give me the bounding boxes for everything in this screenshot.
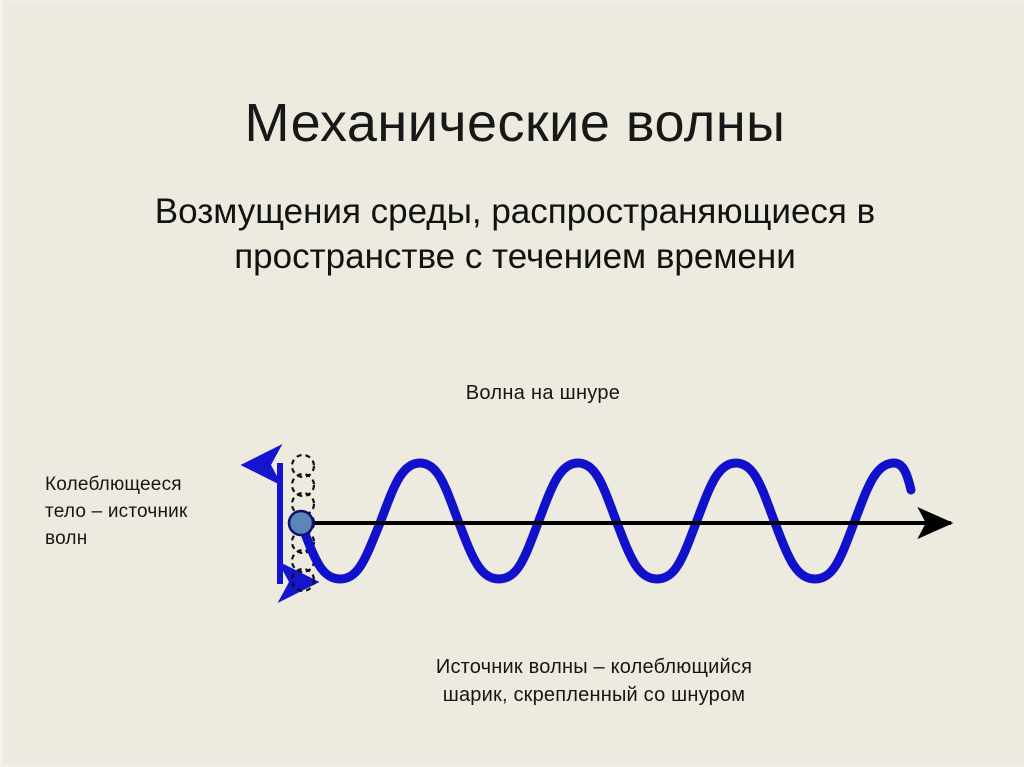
subtitle-line-2: пространстве с течением времени [65, 235, 965, 280]
source-ball [289, 511, 313, 535]
ghost-circle [292, 550, 314, 572]
wave-source-caption-line-1: Источник волны – колеблющийся [289, 653, 899, 681]
diagram-title-label: Волна на шнуре [333, 382, 753, 405]
ghost-position-circles [292, 455, 314, 591]
slide-canvas: Механические волны Возмущения среды, рас… [0, 0, 1024, 767]
source-body-label-line-2: тело – источник [45, 499, 260, 526]
ghost-circle [292, 531, 314, 553]
ghost-circle [292, 493, 314, 515]
ghost-circle [292, 474, 314, 496]
subtitle-line-1: Возмущения среды, распространяющиеся в [65, 190, 965, 235]
sine-wave-curve [301, 463, 911, 579]
source-body-label: Колеблющееся тело – источник волн [45, 472, 260, 553]
wave-source-caption-line-2: шарик, скрепленный со шнуром [289, 681, 899, 709]
wave-source-caption: Источник волны – колеблющийся шарик, скр… [289, 653, 899, 710]
source-body-label-line-1: Колеблющееся [45, 472, 260, 499]
page-title: Механические волны [3, 95, 1024, 152]
slide-subtitle: Возмущения среды, распространяющиеся в п… [65, 190, 965, 280]
source-body-label-line-3: волн [45, 526, 260, 553]
ghost-circle [292, 455, 314, 477]
ghost-circle [292, 569, 314, 591]
ghost-circle [292, 512, 314, 534]
